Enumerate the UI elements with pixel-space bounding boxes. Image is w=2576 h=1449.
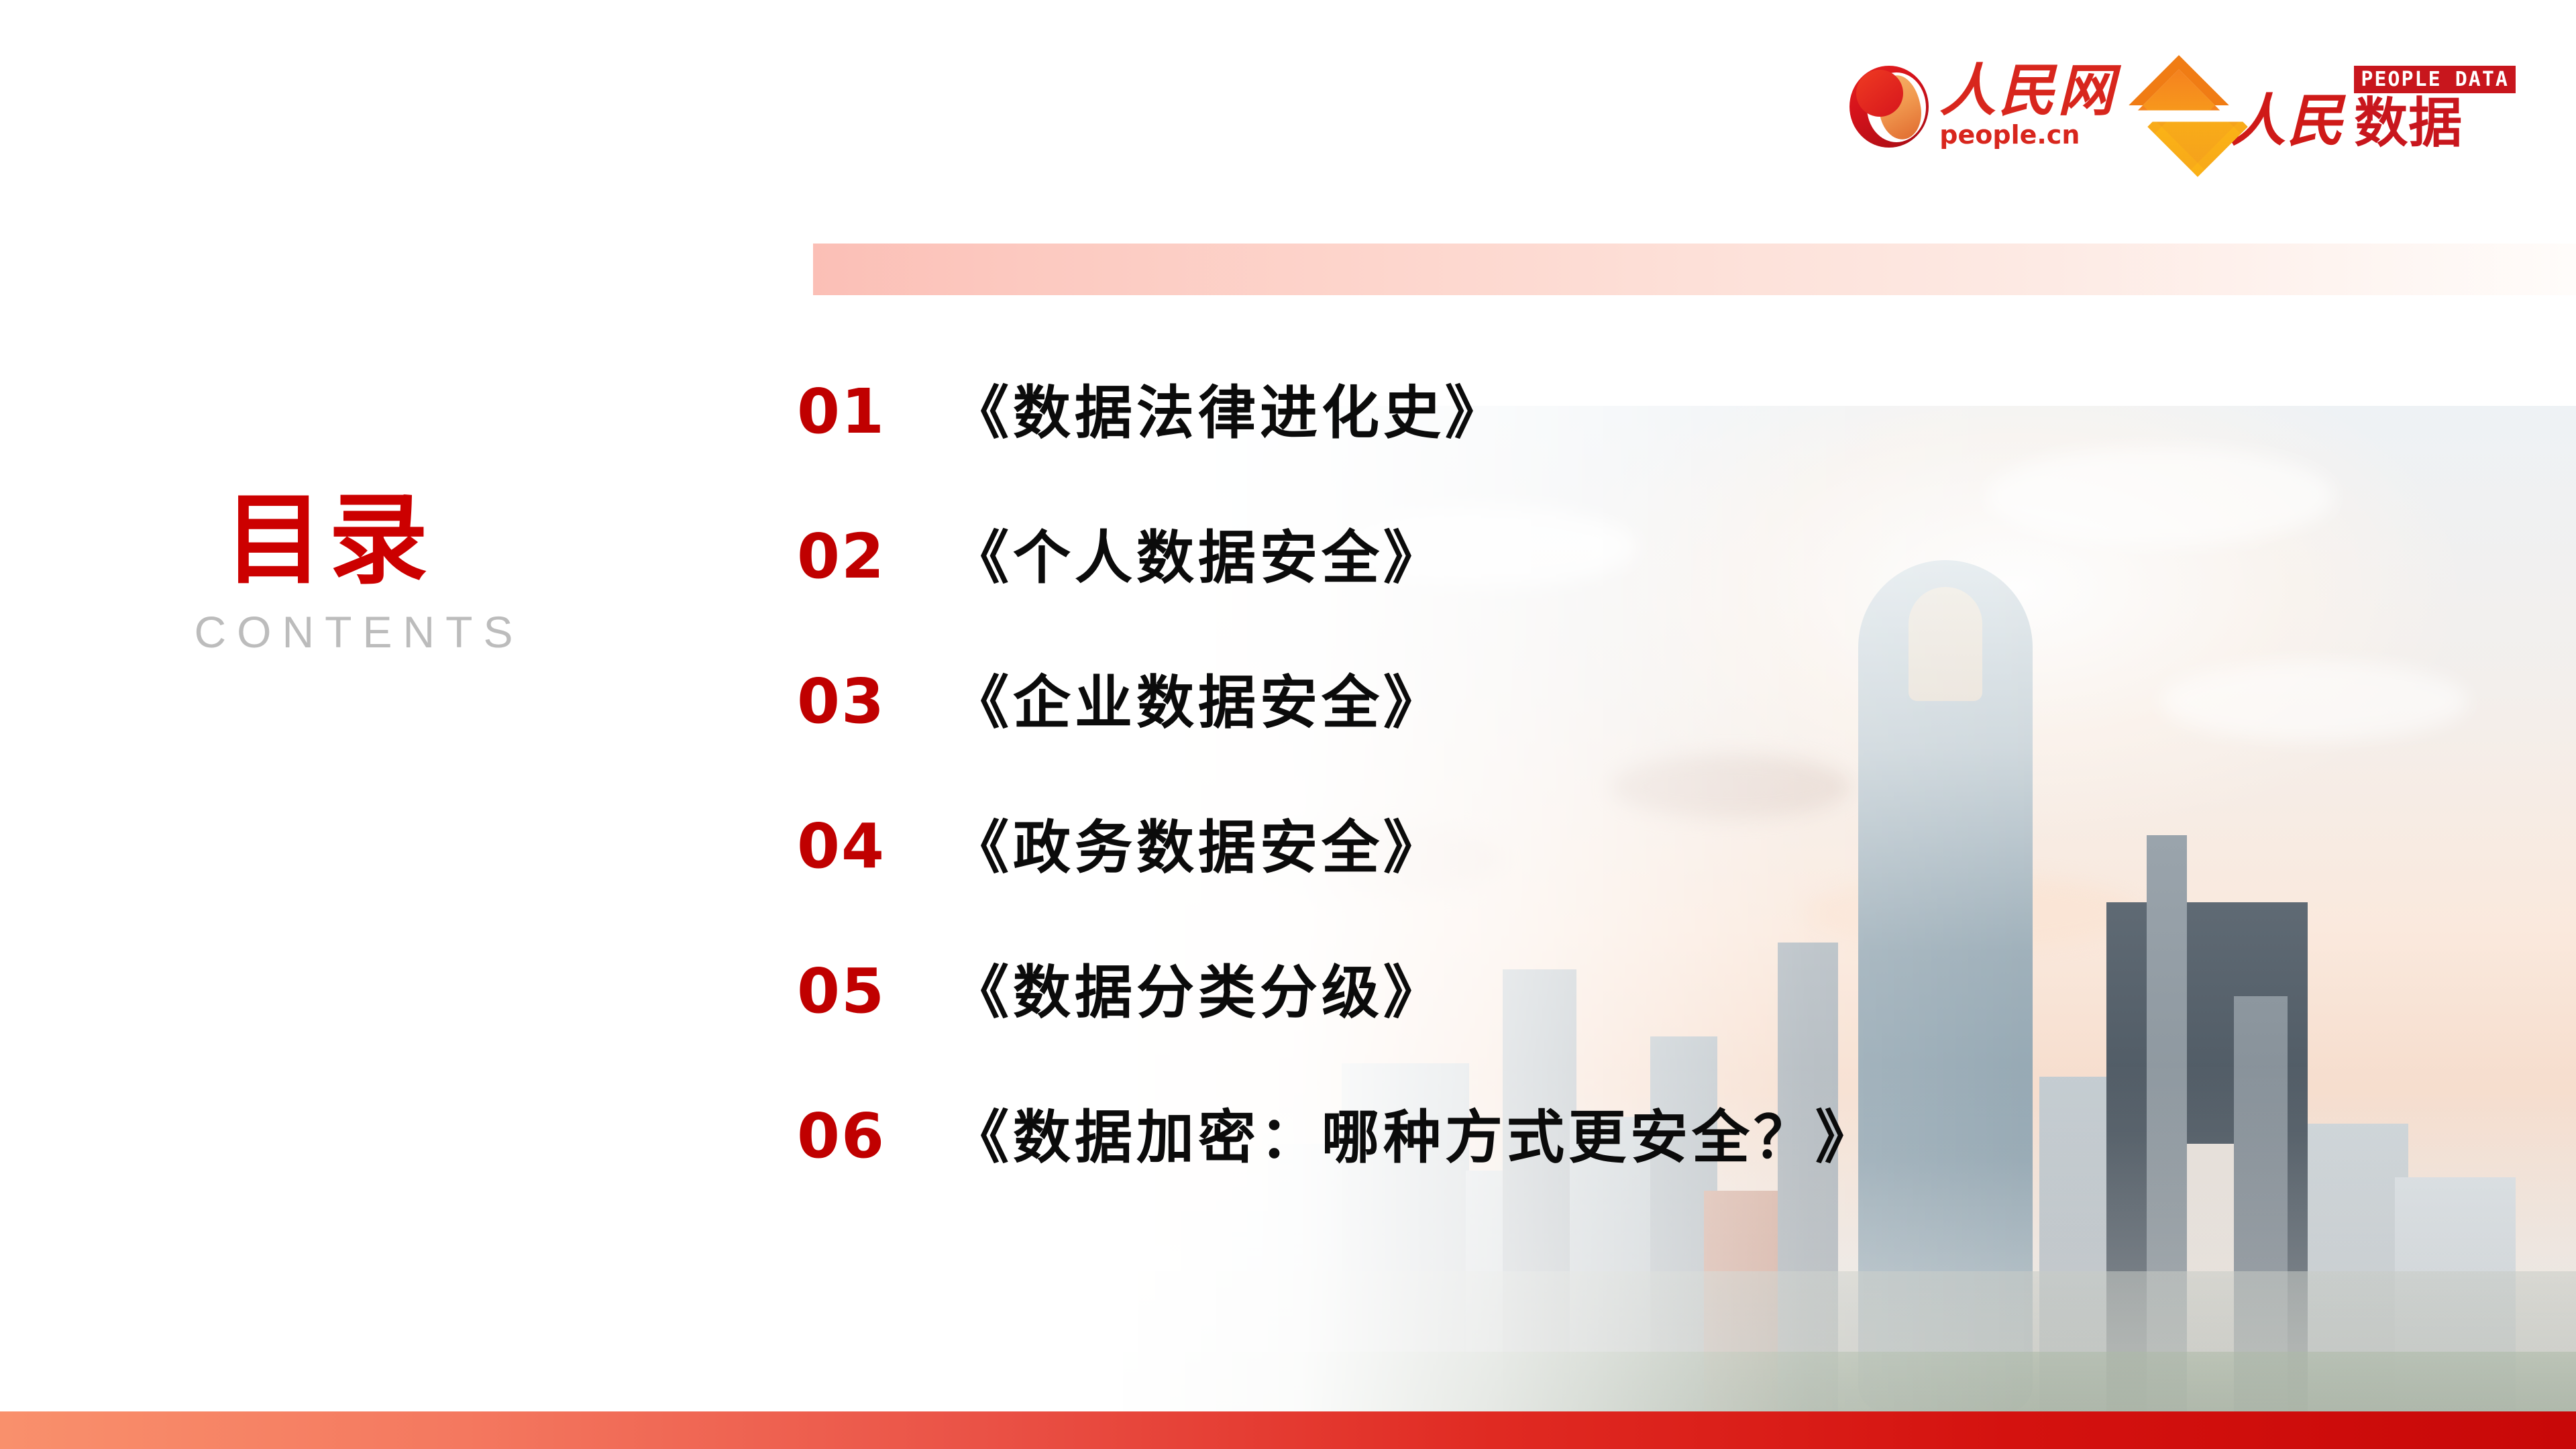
people-cn-logo[interactable]: 人民网 people.cn bbox=[1849, 64, 2116, 150]
list-item[interactable]: 05 《数据分类分级》 bbox=[797, 961, 2340, 1106]
list-item-label[interactable]: 《数据加密：哪种方式更安全？》 bbox=[951, 1109, 1877, 1167]
logo-lockup: 人民网 people.cn 人民 PEOPLE DATA 数据 bbox=[1849, 64, 2516, 150]
people-data-chinese-prefix: 人民 bbox=[2229, 94, 2345, 148]
people-cn-flame-logo-icon bbox=[1849, 66, 1929, 148]
list-item[interactable]: 06 《数据加密：哪种方式更安全？》 bbox=[797, 1106, 2340, 1250]
list-item[interactable]: 03 《企业数据安全》 bbox=[797, 671, 2340, 816]
list-item[interactable]: 04 《政务数据安全》 bbox=[797, 816, 2340, 961]
list-item[interactable]: 02 《个人数据安全》 bbox=[797, 526, 2340, 671]
table-of-contents: 01 《数据法律进化史》 02 《个人数据安全》 03 《企业数据安全》 04 … bbox=[797, 381, 2340, 1250]
list-item-label[interactable]: 《政务数据安全》 bbox=[951, 819, 1445, 877]
pink-gradient-divider bbox=[813, 244, 2576, 295]
page-title: 目录 CONTENTS bbox=[0, 490, 644, 654]
list-item-number: 06 bbox=[797, 1106, 951, 1167]
people-data-english-badge: PEOPLE DATA bbox=[2354, 66, 2516, 93]
list-item-number: 02 bbox=[797, 526, 951, 588]
list-item-label[interactable]: 《企业数据安全》 bbox=[951, 674, 1445, 732]
list-item-label[interactable]: 《数据分类分级》 bbox=[951, 964, 1445, 1022]
list-item-number: 05 bbox=[797, 961, 951, 1022]
people-data-diamond-logo-icon bbox=[2139, 66, 2218, 148]
people-data-chinese-suffix: 数据 bbox=[2354, 99, 2516, 148]
slide-canvas: 人民网 people.cn 人民 PEOPLE DATA 数据 目录 CONTE… bbox=[0, 0, 2576, 1449]
list-item-label[interactable]: 《个人数据安全》 bbox=[951, 529, 1445, 587]
page-title-english: CONTENTS bbox=[74, 610, 644, 654]
people-cn-domain-wordmark: people.cn bbox=[1939, 120, 2080, 150]
people-cn-chinese-wordmark: 人民网 bbox=[1939, 64, 2116, 117]
list-item-number: 01 bbox=[797, 381, 951, 443]
bottom-accent-band bbox=[0, 1411, 2576, 1449]
list-item-label[interactable]: 《数据法律进化史》 bbox=[951, 384, 1507, 442]
list-item-number: 03 bbox=[797, 671, 951, 733]
page-title-chinese: 目录 bbox=[13, 490, 644, 591]
list-item-number: 04 bbox=[797, 816, 951, 877]
list-item[interactable]: 01 《数据法律进化史》 bbox=[797, 381, 2340, 526]
green-belt bbox=[1100, 1352, 2576, 1412]
people-data-logo[interactable]: 人民 PEOPLE DATA 数据 bbox=[2139, 66, 2516, 148]
